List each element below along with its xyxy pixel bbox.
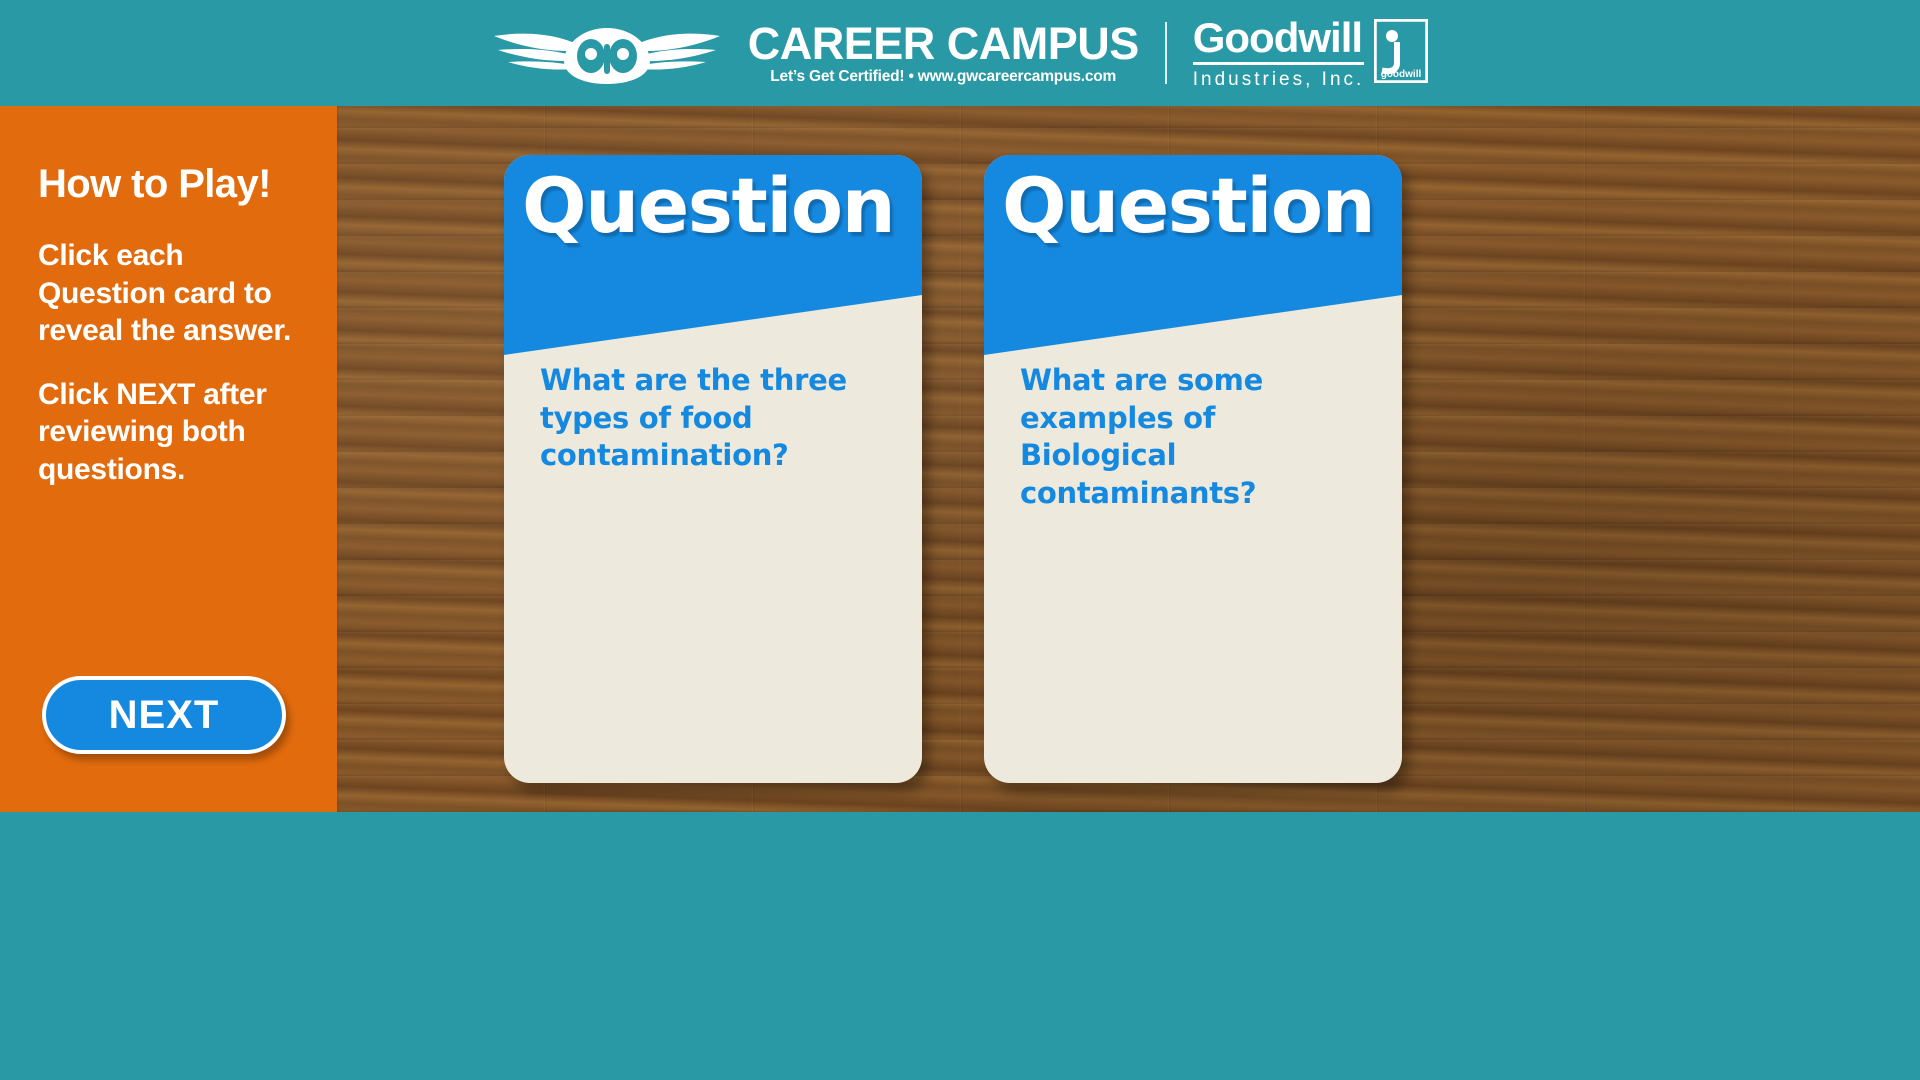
owl-wings-icon xyxy=(492,20,722,86)
slide-root: CAREER CAMPUS Let’s Get Certified! • www… xyxy=(0,0,1920,1080)
partner-subtitle: Industries, Inc. xyxy=(1193,70,1365,89)
instruction-text-1: Click each Question card to reveal the a… xyxy=(38,237,307,350)
page-header: CAREER CAMPUS Let’s Get Certified! • www… xyxy=(0,0,1920,106)
logo-divider xyxy=(1165,22,1167,84)
next-button[interactable]: NEXT xyxy=(42,676,286,754)
question-card-text: What are some examples of Biological con… xyxy=(1020,362,1376,513)
goodwill-logo: Goodwill Industries, Inc. goodwill xyxy=(1193,17,1429,89)
career-campus-wordmark: CAREER CAMPUS Let’s Get Certified! • www… xyxy=(748,21,1139,85)
how-to-play-sidebar: How to Play! Click each Question card to… xyxy=(0,106,337,812)
instruction-text-2: Click NEXT after reviewing both question… xyxy=(38,376,307,489)
question-card-header-label: Question xyxy=(522,168,894,244)
question-card-header: Question xyxy=(504,155,922,355)
question-card[interactable]: Question What are the three types of foo… xyxy=(504,155,922,783)
next-button-label: NEXT xyxy=(109,693,220,738)
page-title: How to Play! xyxy=(38,162,307,207)
brand-title: CAREER CAMPUS xyxy=(748,21,1139,66)
goodwill-mark-label: goodwill xyxy=(1381,69,1422,80)
partner-title: Goodwill xyxy=(1193,17,1365,65)
goodwill-smiling-g-icon: goodwill xyxy=(1374,19,1428,88)
page-footer xyxy=(0,812,1920,1080)
brand-logo-row: CAREER CAMPUS Let’s Get Certified! • www… xyxy=(492,17,1429,89)
goodwill-wordmark: Goodwill Industries, Inc. xyxy=(1193,17,1365,89)
question-card-header: Question xyxy=(984,155,1402,355)
question-card[interactable]: Question What are some examples of Biolo… xyxy=(984,155,1402,783)
brand-tagline: Let’s Get Certified! • www.gwcareercampu… xyxy=(770,69,1116,85)
question-card-header-label: Question xyxy=(1002,168,1374,244)
question-card-text: What are the three types of food contami… xyxy=(540,362,896,475)
